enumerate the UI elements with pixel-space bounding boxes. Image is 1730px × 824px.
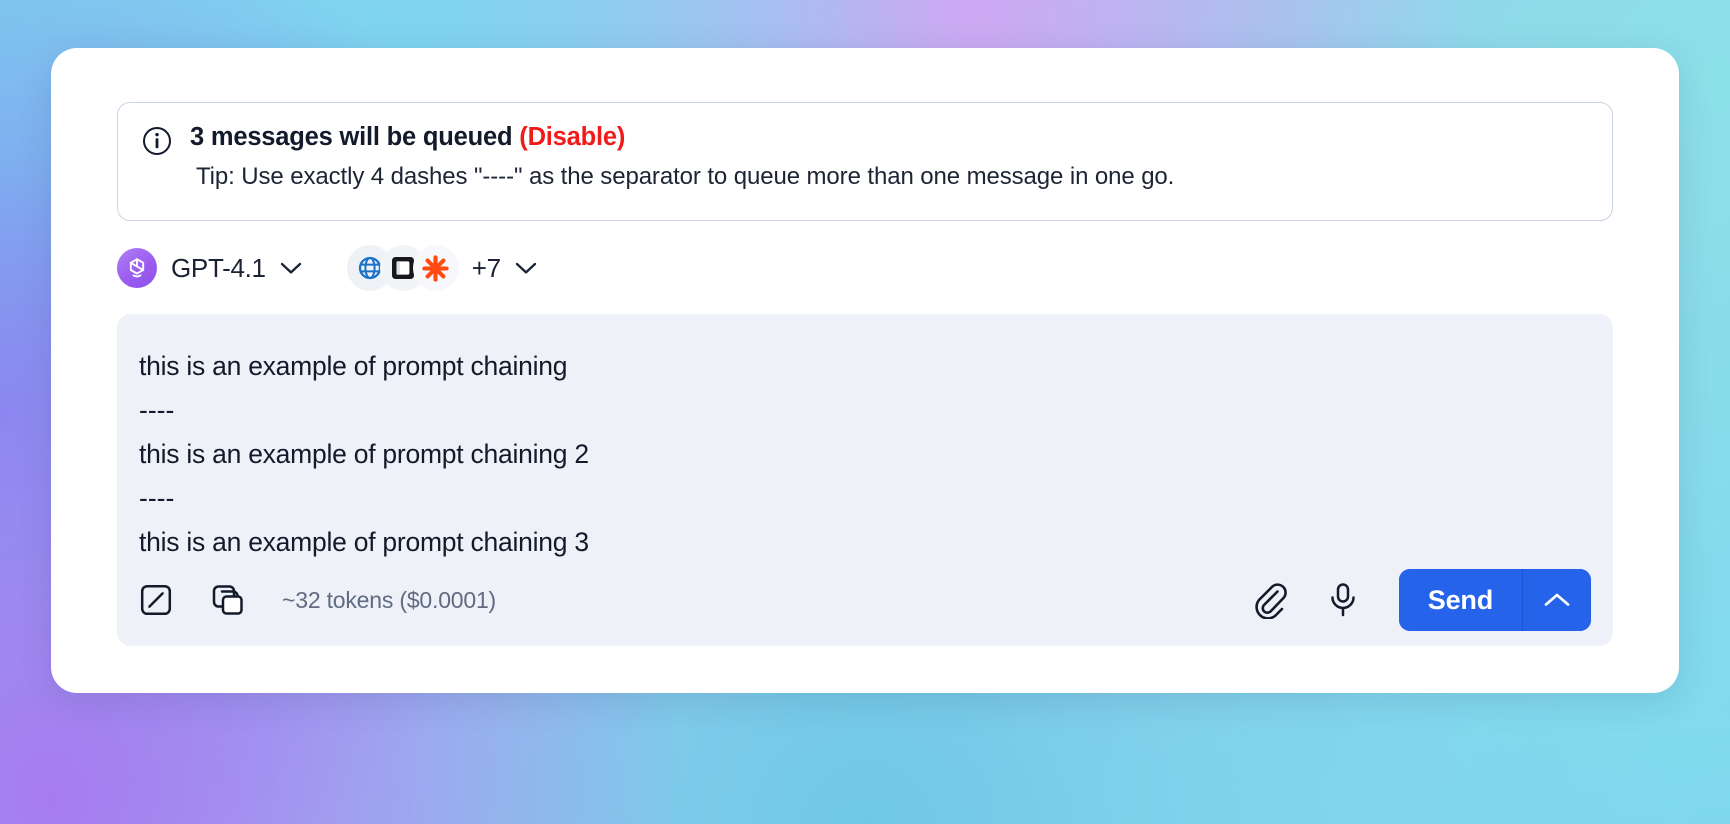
send-button-group: Send [1399,569,1591,631]
composer-textarea[interactable]: this is an example of prompt chaining --… [117,314,1613,564]
composer-line: this is an example of prompt chaining [139,344,1613,388]
apps-selector[interactable]: +7 [347,245,538,291]
zapier-app-icon [413,245,459,291]
info-circle-icon [142,126,172,156]
banner-text-block: 3 messages will be queued (Disable) Tip:… [190,123,1174,220]
layers-stack-icon[interactable] [210,582,248,618]
disable-queue-link[interactable]: (Disable) [519,123,625,151]
toolbar-left-group: ~32 tokens ($0.0001) [139,582,496,618]
square-slash-icon[interactable] [139,583,173,617]
composer-toolbar: ~32 tokens ($0.0001) Send [117,554,1613,646]
apps-overflow-count: +7 [472,253,501,284]
banner-title-text: 3 messages will be queued [190,123,512,151]
composer-line: this is an example of prompt chaining 2 [139,432,1613,476]
model-selector-row: GPT-4.1 [117,242,538,294]
banner-title: 3 messages will be queued (Disable) [190,123,1174,152]
queue-banner: 3 messages will be queued (Disable) Tip:… [117,102,1613,221]
composer-card: 3 messages will be queued (Disable) Tip:… [51,48,1679,693]
openai-logo-icon [117,248,157,288]
banner-tip: Tip: Use exactly 4 dashes "----" as the … [196,163,1174,191]
token-count-label: ~32 tokens ($0.0001) [282,587,496,614]
microphone-icon[interactable] [1327,581,1359,619]
composer-line: ---- [139,476,1613,520]
model-name-label: GPT-4.1 [171,253,266,284]
chevron-down-icon [279,260,303,276]
paperclip-icon[interactable] [1251,581,1287,619]
model-selector[interactable]: GPT-4.1 [117,244,303,292]
chevron-down-icon [514,260,538,276]
send-options-button[interactable] [1523,569,1591,631]
send-button[interactable]: Send [1399,569,1523,631]
chevron-up-icon [1542,590,1572,610]
composer-line: ---- [139,388,1613,432]
toolbar-right-group: Send [1251,569,1591,631]
app-avatar-group [347,245,459,291]
message-composer[interactable]: this is an example of prompt chaining --… [117,314,1613,646]
